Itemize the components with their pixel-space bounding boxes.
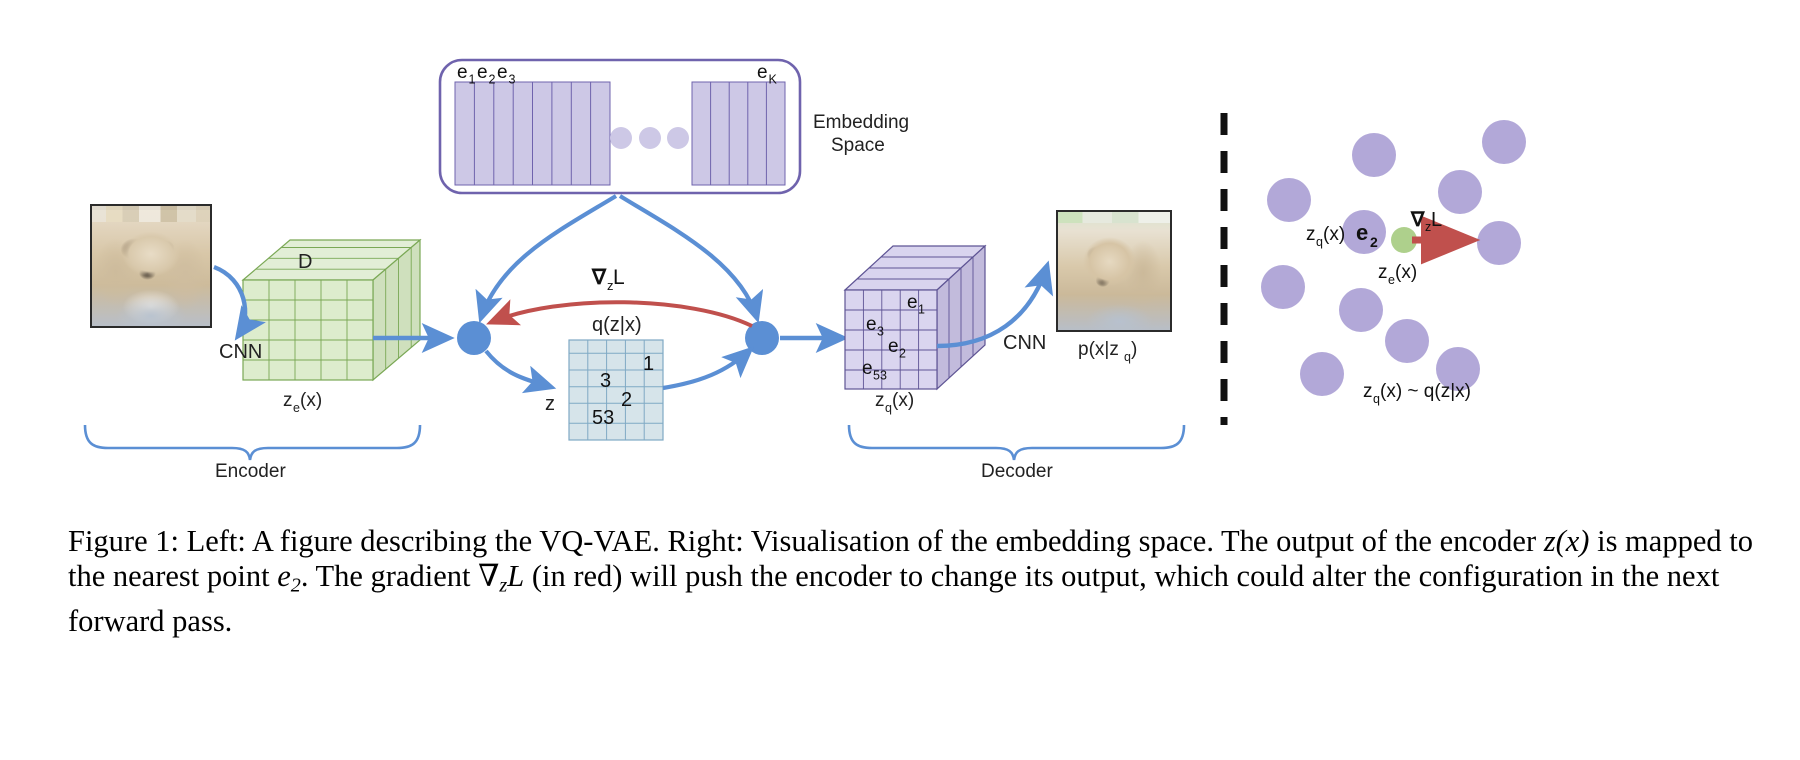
decoder-cell-label-e53-sub: 53 [873, 369, 887, 383]
decoder-cube-caption-sub: q [885, 401, 892, 415]
encoder-bracket [85, 425, 420, 460]
codebook-ellipsis-icon [610, 127, 689, 149]
gradient-label-tail: L [613, 266, 625, 289]
caption-math-zx: (x) [1556, 524, 1590, 558]
decoder-cube-caption-tail: (x) [892, 390, 914, 411]
decoder-cell-label-e2-sub: 2 [899, 347, 906, 361]
encoder-feature-cube: D [243, 240, 420, 380]
arrow-grid-to-right-node [663, 350, 750, 388]
encoder-bracket-label: Encoder [215, 461, 286, 482]
right-zq-label-sub: q [1316, 235, 1323, 249]
decoder-cell-label-e1: e [907, 292, 918, 313]
encoder-cnn-label: CNN [219, 341, 262, 363]
decoder-cnn-label: CNN [1003, 332, 1046, 354]
codebook-label-e2-sub: 2 [489, 73, 496, 87]
caption-mid-2: . The gradient [301, 559, 478, 593]
right-panel-bottom-label-sub: q [1373, 392, 1380, 406]
right-panel-bottom-label: z [1363, 381, 1373, 402]
output-caption-sub: q [1124, 350, 1131, 364]
arrow-left-node-to-grid [486, 351, 551, 387]
caption-math-nabla: ∇ [478, 559, 499, 593]
right-ze-label: z [1378, 262, 1388, 283]
decoder-cell-label-e53: e [862, 358, 873, 379]
figure-panel: e 1 e 2 e 3 e K Embedding Space [0, 0, 1800, 510]
decoder-cube-caption: z [875, 390, 885, 411]
caption-math-e-sub: 2 [291, 575, 301, 597]
encoder-cube-caption-tail: (x) [300, 390, 322, 411]
arrow-input-to-encoder [214, 267, 245, 336]
encoder-cube-caption: z [283, 390, 293, 411]
decoder-bracket-label: Decoder [981, 461, 1053, 482]
embedding-space-group: e 1 e 2 e 3 e K Embedding Space [440, 60, 909, 193]
gradient-label-nabla: ∇ [591, 266, 607, 289]
caption-math-e: e [277, 559, 291, 593]
decoder-cell-label-e1-sub: 1 [918, 303, 925, 317]
grid-cell-value-53: 53 [592, 407, 614, 429]
decoder-cell-label-e3: e [866, 314, 877, 335]
decoder-cell-label-e2: e [888, 336, 899, 357]
caption-math-z: z [1544, 524, 1556, 558]
codebook-label-e3: e [497, 62, 508, 83]
codebook-label-e2: e [477, 62, 488, 83]
scatter-point [1339, 288, 1383, 332]
diagram-canvas: e 1 e 2 e 3 e K Embedding Space [0, 0, 1800, 510]
scatter-point [1261, 265, 1305, 309]
grid-cell-value-2: 2 [621, 389, 632, 411]
grid-cell-value-3: 3 [600, 370, 611, 392]
codebook-label-e1: e [457, 62, 468, 83]
encoder-cube-caption-sub: e [293, 401, 300, 415]
caption-prefix: Figure 1: Left: A figure describing the … [68, 524, 1544, 558]
decoder-quantized-cube: e 1 e 3 e 2 e 53 [0, 0, 985, 389]
scatter-point [1482, 120, 1526, 164]
right-zq-label: z [1306, 224, 1316, 245]
embedding-space-label-line2: Space [831, 135, 885, 156]
codebook-label-eK-sub: K [769, 73, 778, 87]
encoder-cube-D-label: D [298, 251, 312, 273]
latent-z-label: z [545, 393, 555, 415]
embedding-space-label-line1: Embedding [813, 112, 909, 133]
scatter-point [1300, 352, 1344, 396]
right-panel-bottom-label-tail: (x) ~ q(z|x) [1380, 381, 1471, 402]
arrow-codebook-to-left-node [481, 196, 616, 318]
right-ze-label-tail: (x) [1395, 262, 1417, 283]
scatter-point [1385, 319, 1429, 363]
right-gradient-nabla: ∇ [1410, 209, 1425, 231]
latent-code-grid: 1 3 2 53 [569, 340, 663, 440]
codebook-block-left [455, 82, 610, 185]
scatter-point [1352, 133, 1396, 177]
right-e2-label-sub: 2 [1370, 234, 1378, 250]
codebook-label-eK: e [757, 62, 768, 83]
right-e2-label: e [1356, 220, 1368, 245]
right-zq-label-tail: (x) [1323, 224, 1345, 245]
figure-caption: Figure 1: Left: A figure describing the … [68, 524, 1758, 639]
arrow-codebook-to-right-node [620, 196, 757, 318]
output-caption-tail: ) [1131, 339, 1137, 360]
scatter-point [1477, 221, 1521, 265]
caption-math-L: L [507, 559, 524, 593]
posterior-label: q(z|x) [592, 314, 642, 336]
scatter-point [1267, 178, 1311, 222]
right-gradient-tail: L [1431, 209, 1442, 231]
output-caption: p(x|z [1078, 339, 1119, 360]
quantize-node-left [457, 321, 491, 355]
decoder-cell-label-e3-sub: 3 [877, 325, 884, 339]
codebook-block-right [692, 82, 785, 185]
right-ze-label-sub: e [1388, 273, 1395, 287]
codebook-label-e1-sub: 1 [469, 73, 476, 87]
embedding-scatter-group [1261, 133, 1521, 396]
decoder-bracket [849, 425, 1184, 460]
codebook-label-e3-sub: 3 [509, 73, 516, 87]
grid-cell-value-1: 1 [643, 353, 654, 375]
scatter-point [1438, 170, 1482, 214]
